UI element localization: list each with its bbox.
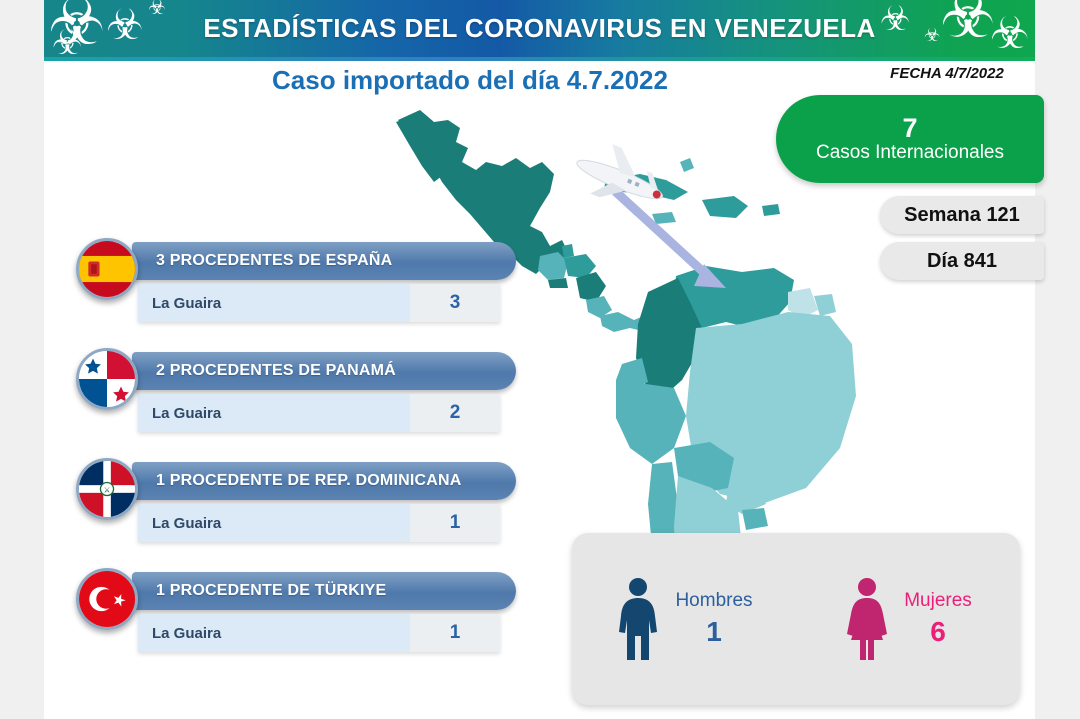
origin-title: 1 PROCEDENTE DE TÜRKIYE: [132, 572, 516, 610]
origin-location: La Guaira: [138, 614, 410, 652]
origin-title: 3 PROCEDENTES DE ESPAÑA: [132, 242, 516, 280]
airplane-icon: [568, 134, 674, 219]
origin-row: 3 PROCEDENTES DE ESPAÑA La Guaira 3: [76, 236, 536, 346]
panama-flag-icon: [76, 348, 138, 410]
origin-location: La Guaira: [138, 504, 410, 542]
origin-row: ⚔ 1 PROCEDENTE DE REP. DOMINICANA La Gua…: [76, 456, 536, 566]
international-cases-box: 7 Casos Internacionales: [776, 95, 1044, 183]
day-badge: Día 841: [880, 242, 1044, 280]
female-figure-icon: [844, 576, 890, 662]
origin-count: 1: [410, 504, 500, 542]
page-subtitle: Caso importado del día 4.7.2022: [150, 60, 790, 100]
turkey-flag-icon: [76, 568, 138, 630]
origin-count: 3: [410, 284, 500, 322]
origin-count: 1: [410, 614, 500, 652]
origin-title: 1 PROCEDENTE DE REP. DOMINICANA: [132, 462, 516, 500]
gender-men-text: Hombres 1: [675, 589, 752, 649]
origin-row: 2 PROCEDENTES DE PANAMÁ La Guaira 2: [76, 346, 536, 456]
dominican-republic-flag-icon: ⚔: [76, 458, 138, 520]
gender-women-label: Mujeres: [904, 589, 972, 614]
origin-data-row: La Guaira 1: [138, 614, 500, 652]
infographic-root: ☣ ☣ ☣ ☣ ☣ ☣ ☣ ☣ ESTADÍSTICAS DEL CORONAV…: [0, 0, 1080, 719]
origin-title: 2 PROCEDENTES DE PANAMÁ: [132, 352, 516, 390]
map-country-bahamas: [680, 158, 694, 172]
week-badge: Semana 121: [880, 196, 1044, 234]
gender-women-cell: Mujeres 6: [796, 576, 1020, 662]
international-cases-value: 7: [902, 114, 917, 142]
date-label: FECHA 4/7/2022: [862, 62, 1032, 84]
gender-men-label: Hombres: [675, 589, 752, 614]
gender-men-cell: Hombres 1: [572, 576, 796, 662]
map-country-puerto-rico: [762, 204, 780, 216]
origin-location: La Guaira: [138, 394, 410, 432]
gender-women-value: 6: [930, 614, 946, 649]
svg-text:⚔: ⚔: [104, 486, 111, 495]
page-title: ESTADÍSTICAS DEL CORONAVIRUS EN VENEZUEL…: [44, 0, 1035, 57]
origin-row: 1 PROCEDENTE DE TÜRKIYE La Guaira 1: [76, 566, 536, 676]
header-banner: ☣ ☣ ☣ ☣ ☣ ☣ ☣ ☣ ESTADÍSTICAS DEL CORONAV…: [44, 0, 1035, 57]
gender-women-text: Mujeres 6: [904, 589, 972, 649]
origins-list: 3 PROCEDENTES DE ESPAÑA La Guaira 3 2 PR…: [76, 236, 536, 676]
origin-data-row: La Guaira 1: [138, 504, 500, 542]
origin-data-row: La Guaira 2: [138, 394, 500, 432]
male-figure-icon: [615, 576, 661, 662]
map-country-uruguay: [742, 508, 768, 530]
spain-flag-icon: [76, 238, 138, 300]
origin-count: 2: [410, 394, 500, 432]
origin-location: La Guaira: [138, 284, 410, 322]
map-country-belize: [562, 244, 574, 258]
international-cases-label: Casos Internacionales: [816, 142, 1004, 164]
gender-panel: Hombres 1 Mujeres 6: [572, 533, 1020, 705]
gender-men-value: 1: [706, 614, 722, 649]
map-country-hispaniola: [702, 196, 748, 218]
map-country-suriname: [814, 294, 836, 316]
origin-data-row: La Guaira 3: [138, 284, 500, 322]
